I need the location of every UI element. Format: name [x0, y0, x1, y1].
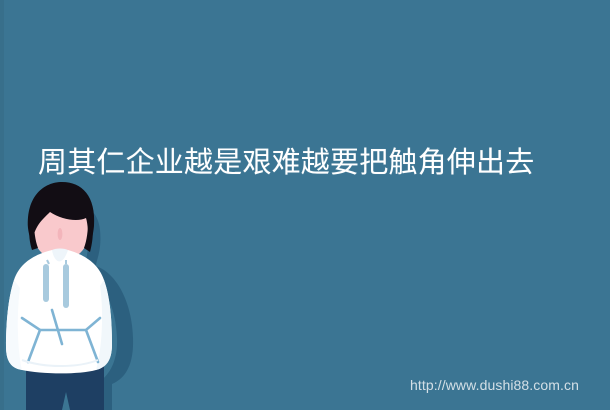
cover-image: 周其仁企业越是艰难越要把触角伸出去	[0, 0, 610, 410]
nose	[58, 228, 63, 240]
watermark-url: http://www.dushi88.com.cn	[410, 377, 579, 393]
person-illustration	[0, 178, 150, 410]
page-title: 周其仁企业越是艰难越要把触角伸出去	[38, 143, 578, 183]
